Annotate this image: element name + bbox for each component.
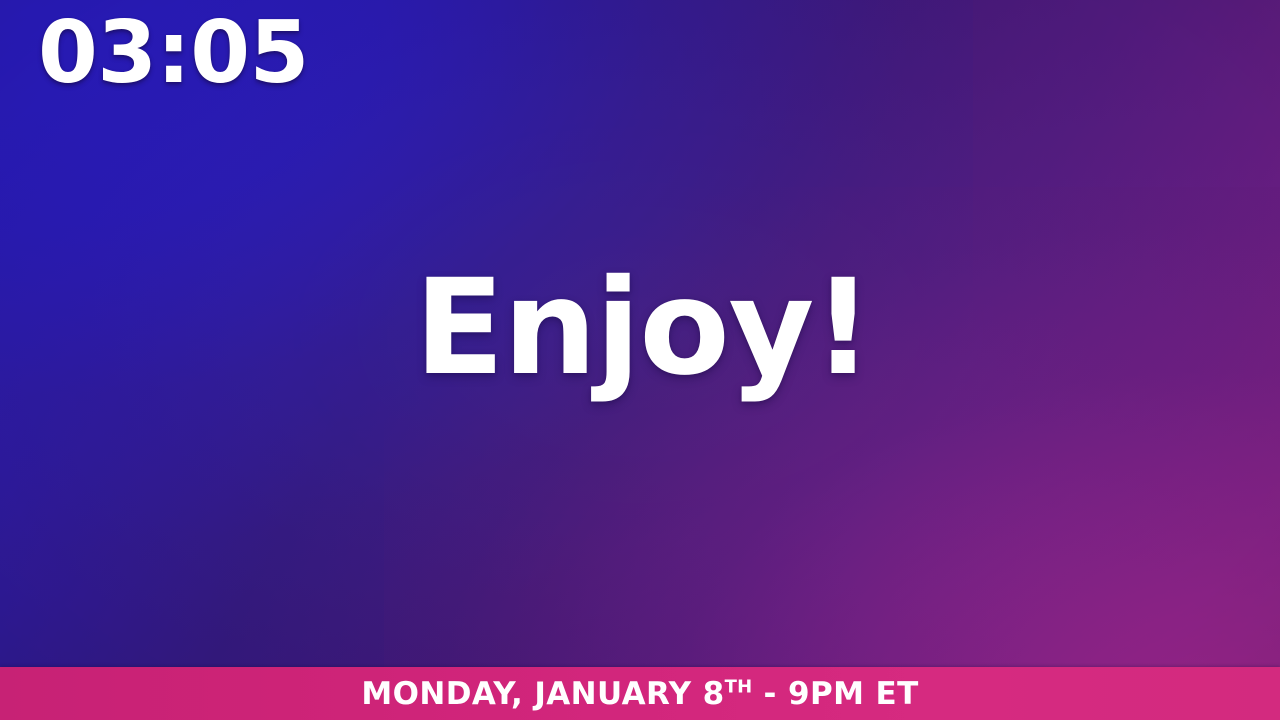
schedule-banner-text: MONDAY, JANUARY 8TH - 9PM ET bbox=[361, 679, 918, 710]
background-vignette bbox=[0, 0, 1280, 720]
schedule-banner: MONDAY, JANUARY 8TH - 9PM ET bbox=[0, 667, 1280, 720]
countdown-overlay-stage: 03:05 Enjoy! MONDAY, JANUARY 8TH - 9PM E… bbox=[0, 0, 1280, 720]
countdown-timer: 03:05 bbox=[38, 10, 309, 98]
schedule-banner-lead: MONDAY, JANUARY 8 bbox=[361, 676, 724, 712]
schedule-banner-ordinal: TH bbox=[725, 677, 753, 698]
schedule-banner-trail: - 9PM ET bbox=[752, 676, 918, 712]
